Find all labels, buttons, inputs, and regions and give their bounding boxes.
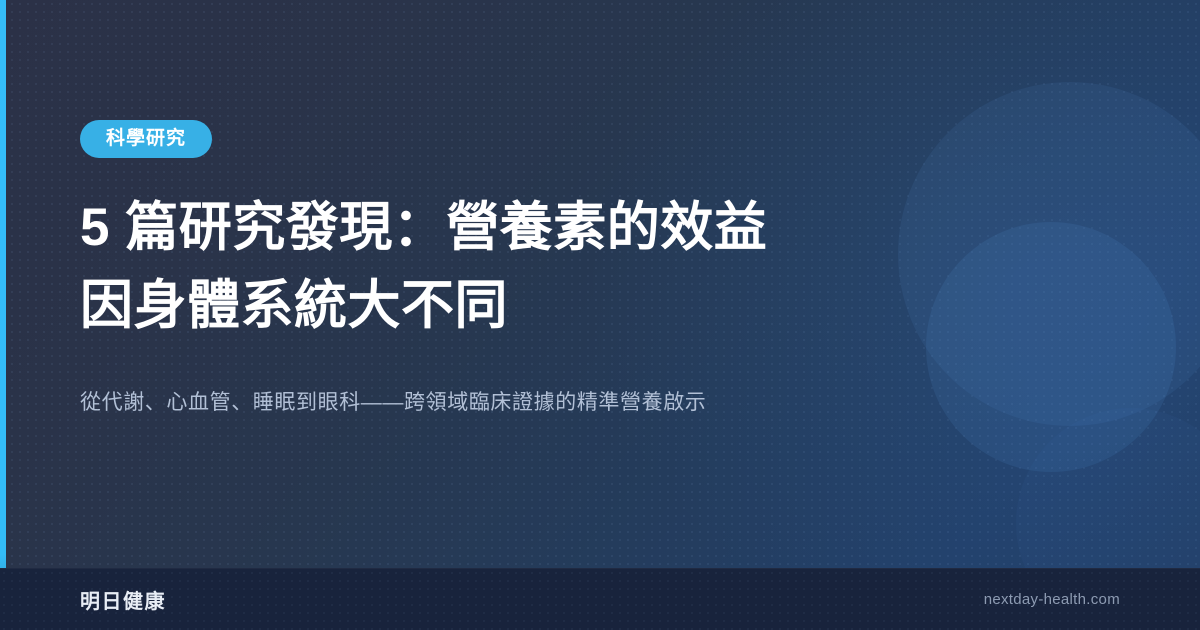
page-title: 5 篇研究發現：營養素的效益 因身體系統大不同 [80,189,870,344]
page-title-line-2: 因身體系統大不同 [80,276,508,335]
social-share-card: 科學研究 5 篇研究發現：營養素的效益 因身體系統大不同 從代謝、心血管、睡眠到… [0,0,1200,630]
decorative-circle-large [898,82,1200,426]
decorative-circle-small [926,222,1176,472]
card-footer: 明日健康 nextday-health.com [0,568,1200,630]
page-subtitle: 從代謝、心血管、睡眠到眼科——跨領域臨床證據的精準營養啟示 [80,386,880,420]
category-badge: 科學研究 [80,120,212,158]
brand-name: 明日健康 [80,585,166,614]
left-accent-bar [0,0,6,630]
card-content: 科學研究 5 篇研究發現：營養素的效益 因身體系統大不同 從代謝、心血管、睡眠到… [80,0,940,568]
page-title-line-1: 5 篇研究發現：營養素的效益 [80,198,767,257]
site-url: nextday-health.com [984,591,1120,608]
